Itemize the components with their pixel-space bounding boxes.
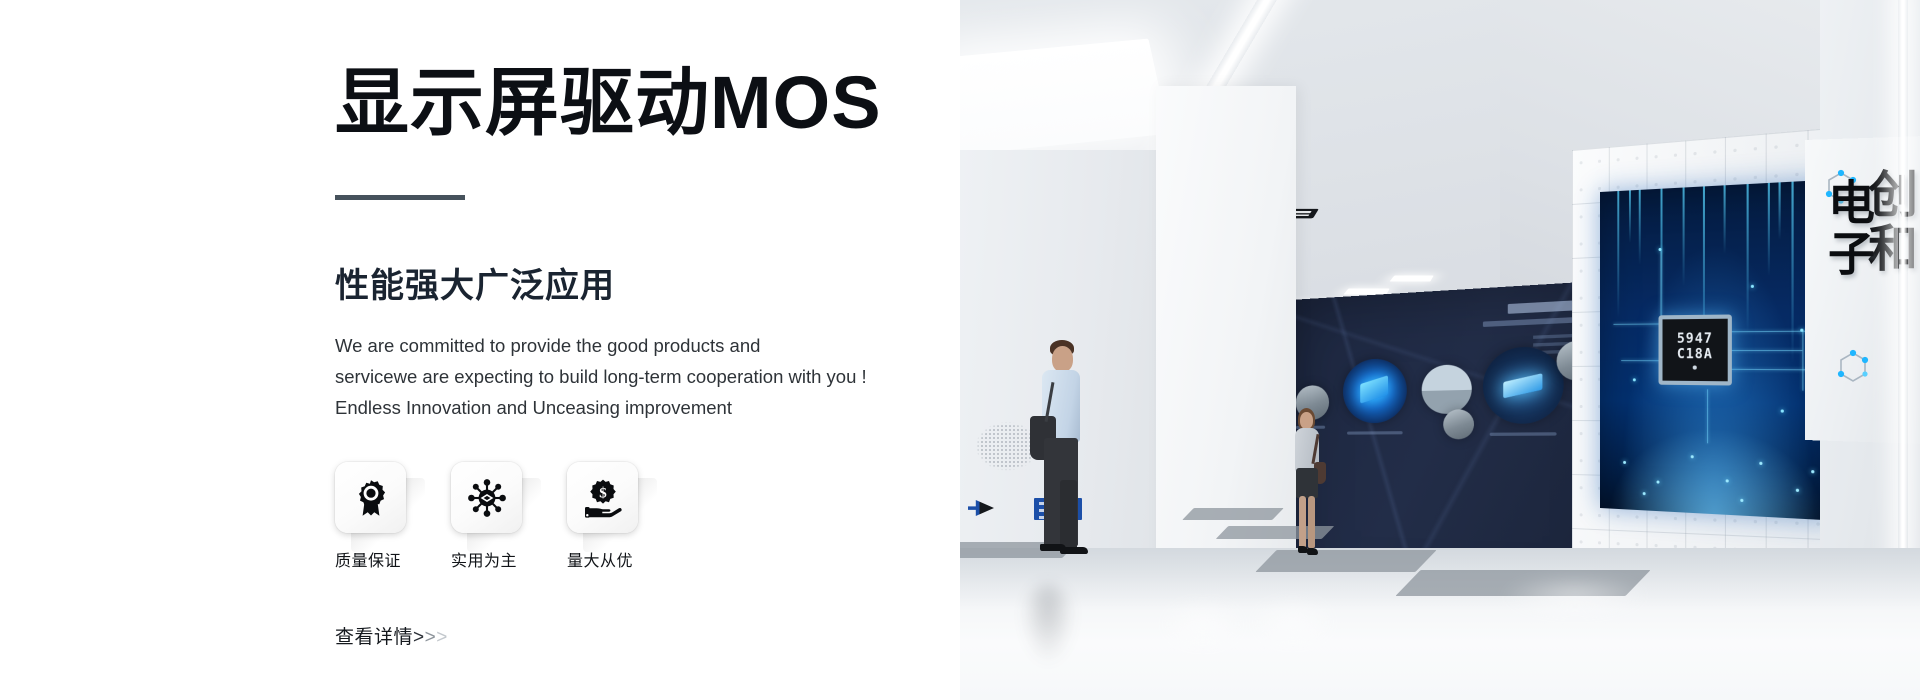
feature-label: 质量保证 [335, 547, 425, 571]
floor-inset-strip [1182, 508, 1284, 520]
feature-tile: $ [567, 462, 638, 533]
wall-sign-column-left: 电子 [1824, 178, 1871, 280]
circuit-trace [1802, 331, 1803, 391]
chip-label-line-1: 5947 [1677, 331, 1713, 347]
chip-label-line-2: C18A [1677, 346, 1713, 362]
exhibit-medallion [1422, 364, 1472, 414]
company-logo-icon [968, 500, 994, 516]
description-line-3: Endless Innovation and Unceasing improve… [335, 392, 915, 423]
description-line-2: servicewe are expecting to build long-te… [335, 361, 915, 392]
banner-subtitle: 性能强大广泛应用 [335, 258, 615, 307]
medallion-caption [1347, 431, 1403, 434]
chip-pin-dot [1693, 365, 1697, 369]
feature-tile [451, 462, 522, 533]
circuit-node [1633, 378, 1636, 381]
page-title: 显示屏驱动MOS [335, 66, 882, 140]
award-ribbon-icon [351, 478, 391, 518]
medallion-caption [1490, 432, 1557, 436]
feature-label: 量大从优 [567, 547, 657, 571]
hand-holding-money-icon: $ [583, 478, 623, 518]
person-businessman [1028, 340, 1098, 562]
person-businesswoman [1286, 408, 1326, 558]
showroom-floor [960, 548, 1920, 700]
person-leg [1308, 496, 1315, 548]
circuit-trace [1732, 350, 1802, 351]
circuit-trace [1661, 250, 1662, 315]
floor-light-reflection [1500, 574, 1650, 618]
view-details-label: 查看详情 [335, 627, 413, 648]
person-head [1300, 412, 1313, 429]
showroom-photo: 企业展厅走廊实景 [960, 0, 1920, 700]
feature-item-practical[interactable]: 实用为主 [451, 462, 541, 571]
circuit-node [1781, 409, 1784, 412]
panel-light [1390, 276, 1434, 282]
person-leg [1299, 496, 1306, 548]
circuit-node [1800, 329, 1803, 332]
exhibit-medallion-chip [1343, 358, 1407, 424]
floor-light-reflection [1250, 596, 1336, 648]
feature-list: 质量保证 [335, 462, 657, 571]
feature-tile [335, 462, 406, 533]
banner-text-panel: 显示屏驱动MOS 性能强大广泛应用 We are committed to pr… [0, 0, 960, 700]
exhibit-medallion-chip [1483, 345, 1564, 424]
banner-description: We are committed to provide the good pro… [335, 330, 915, 423]
floor-inset-strip [1255, 550, 1436, 572]
hexagon-molecule-icon [1834, 348, 1872, 392]
network-hub-icon [467, 478, 507, 518]
feature-item-quality[interactable]: 质量保证 [335, 462, 425, 571]
person-head [1052, 346, 1073, 372]
svg-text:$: $ [599, 485, 607, 501]
chevron-1-icon: > [413, 627, 425, 648]
exhibit-medallion [1443, 409, 1474, 439]
description-line-1: We are committed to provide the good pro… [335, 330, 915, 361]
title-divider [335, 195, 465, 200]
person-trouser-leg [1060, 480, 1077, 550]
circuit-node [1751, 285, 1754, 288]
floor-light-reflection [1160, 598, 1246, 650]
screen-bottom-glow [1600, 418, 1838, 521]
circuit-trace [1621, 360, 1660, 361]
chip-graphic: 5947 C18A [1659, 314, 1732, 385]
feature-item-bulk-discount[interactable]: $ 量大从优 [567, 462, 657, 571]
person-shoe [1060, 547, 1088, 554]
chevron-3-icon: > [436, 627, 448, 648]
person-reflection [1022, 584, 1074, 664]
feature-label: 实用为主 [451, 547, 541, 571]
chevron-2-icon: > [425, 627, 437, 648]
hero-banner: 显示屏驱动MOS 性能强大广泛应用 We are committed to pr… [0, 0, 1920, 700]
person-shoe [1307, 548, 1318, 555]
wall-display-screen: 5947 C18A [1600, 179, 1838, 521]
person-skirt [1296, 468, 1318, 498]
view-details-link[interactable]: 查看详情>>> [335, 622, 448, 649]
